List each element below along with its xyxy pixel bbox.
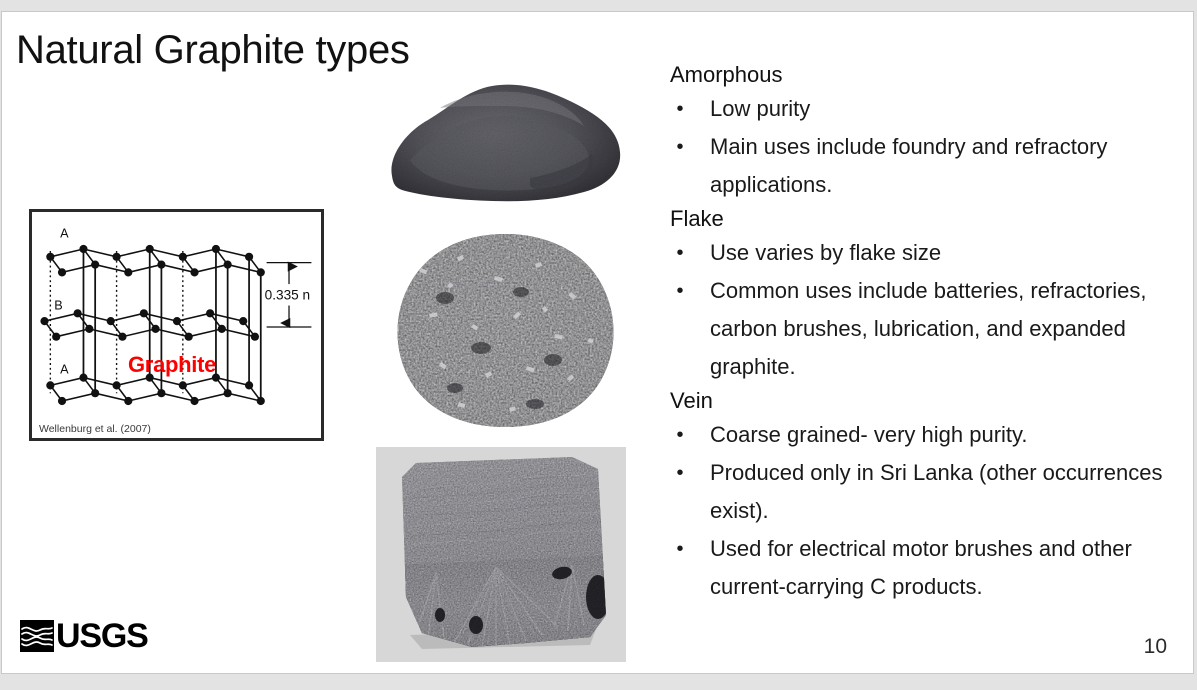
bullet-icon: • [675,128,685,166]
list-item: • Main uses include foundry and refracto… [670,128,1190,204]
bullet-icon: • [675,416,685,454]
layer-label-a-bottom: A [60,363,69,377]
figure-citation: Wellenburg et al. (2007) [37,423,153,435]
interlayer-spacing-label: 0.335 n [265,288,310,303]
section-heading-amorphous: Amorphous [670,60,1190,90]
list-item: • Used for electrical motor brushes and … [670,530,1190,606]
usgs-wave-mark-icon [20,620,54,652]
page-title: Natural Graphite types [16,26,410,74]
list-item-text: Produced only in Sri Lanka (other occurr… [710,454,1190,530]
section-heading-vein: Vein [670,386,1190,416]
list-item: • Use varies by flake size [670,234,1190,272]
layer-label-b: B [54,298,62,312]
usgs-wordmark: USGS [56,620,148,652]
list-item-text: Coarse grained- very high purity. [710,416,1190,454]
section-vein: Vein • Coarse grained- very high purity.… [670,386,1190,606]
lattice-diagram-svg: A B A 0.335 n [32,212,321,438]
list-item: • Common uses include batteries, refract… [670,272,1190,386]
flake-graphite-photo [385,228,625,433]
bullet-icon: • [675,454,685,492]
slide-viewer: Natural Graphite types [0,0,1197,690]
section-flake: Flake • Use varies by flake size • Commo… [670,204,1190,386]
graphite-overlay-label: Graphite [128,352,216,378]
bullet-icon: • [675,530,685,568]
usgs-logo: USGS [20,615,148,657]
section-heading-flake: Flake [670,204,1190,234]
page-number: 10 [1144,635,1167,659]
bullet-icon: • [675,234,685,272]
slide-canvas: Natural Graphite types [1,11,1194,674]
layer-label-a-top: A [60,226,69,240]
vein-graphite-photo [376,447,626,662]
amorphous-powder-illustration [380,68,630,218]
section-amorphous: Amorphous • Low purity • Main uses inclu… [670,60,1190,204]
list-item-text: Main uses include foundry and refractory… [710,128,1190,204]
list-item-text: Low purity [710,90,1190,128]
bullet-icon: • [675,90,685,128]
graphite-types-content: Amorphous • Low purity • Main uses inclu… [670,60,1190,606]
list-item: • Coarse grained- very high purity. [670,416,1190,454]
list-item: • Produced only in Sri Lanka (other occu… [670,454,1190,530]
bullet-icon: • [675,272,685,310]
list-item: • Low purity [670,90,1190,128]
list-item-text: Used for electrical motor brushes and ot… [710,530,1190,606]
list-item-text: Use varies by flake size [710,234,1190,272]
vein-graphite-illustration [376,447,626,662]
amorphous-graphite-photo [380,68,630,218]
list-item-text: Common uses include batteries, refractor… [710,272,1190,386]
graphite-crystal-structure-figure: A B A 0.335 n Graphite Wellenburg et al.… [29,209,324,441]
flake-graphite-illustration [385,228,625,433]
